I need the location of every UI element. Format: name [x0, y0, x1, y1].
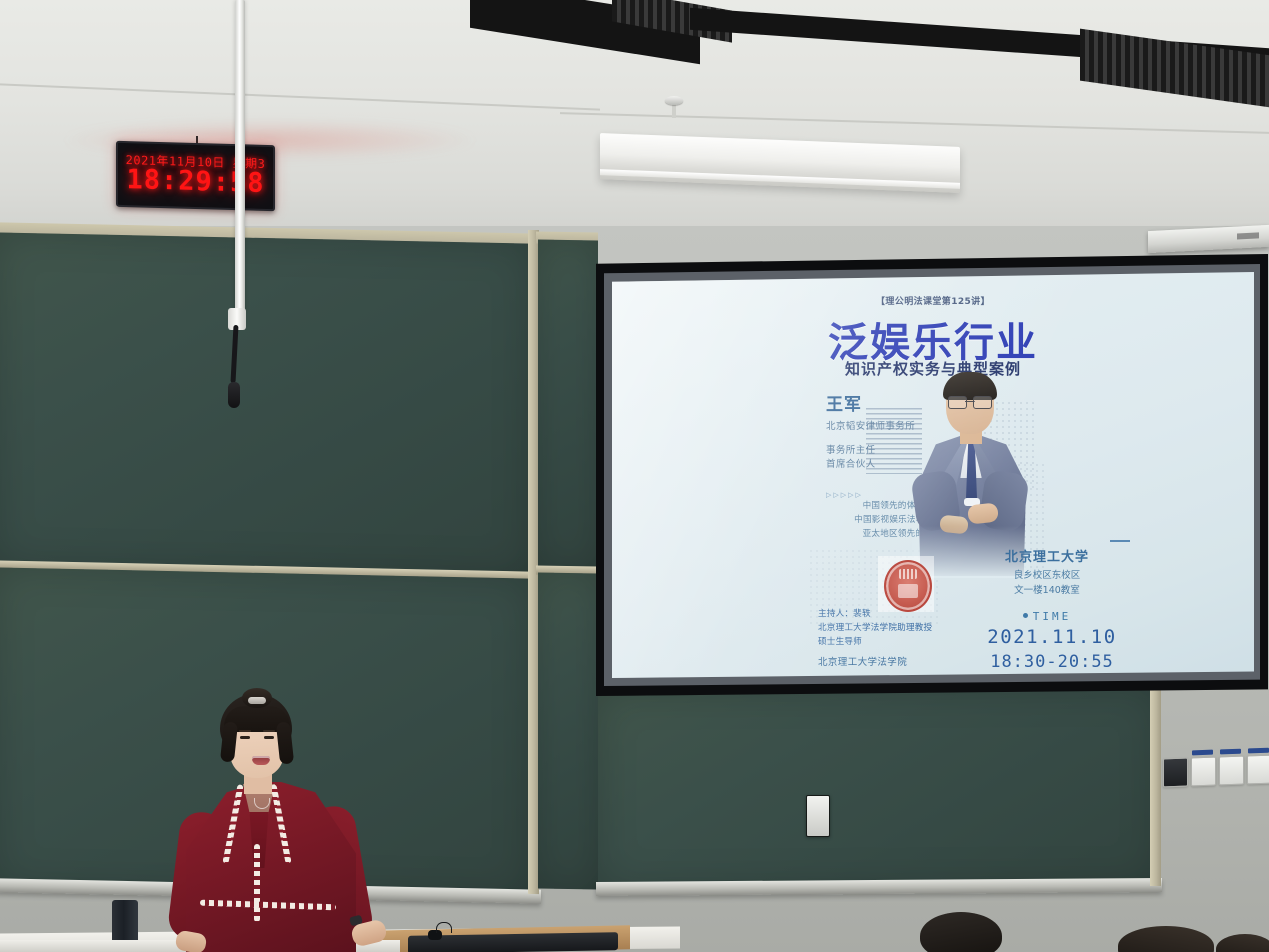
switch-wrap [1247, 755, 1269, 785]
wall-light-switch-panel[interactable] [1163, 754, 1269, 788]
presenter-woman-red-cardigan [168, 694, 418, 952]
roller-label [1237, 232, 1259, 239]
cardigan-trim-center [254, 844, 260, 922]
presenter-mouth [252, 756, 270, 765]
switch-wrap [1191, 757, 1216, 787]
switch-label-1 [1192, 750, 1213, 756]
switch-wrap [1219, 756, 1244, 786]
audience-head-1 [920, 912, 1002, 952]
blackboard-upper-right-strip [538, 239, 598, 570]
switch-3[interactable] [1247, 755, 1269, 785]
screen-glare [612, 272, 1254, 678]
lecture-hall-scene: 2021年11月10日 星期3 18:29:58 【理公明法课堂第125讲】 泛… [0, 0, 1269, 952]
blackboard-right-edge-rail [1150, 686, 1161, 886]
blackboard-upper-left [0, 232, 530, 575]
ceiling-seam [0, 83, 600, 110]
switch-wrap [1163, 758, 1188, 788]
ceiling-vent-grate-right [1080, 29, 1269, 108]
presenter-eye-left [240, 736, 250, 739]
blackboard-below-screen [598, 688, 1158, 888]
blackboard-lower-right-strip [538, 572, 598, 889]
hanging-microphone-icon [228, 382, 240, 408]
ceiling-fluorescent-fixture [600, 133, 960, 193]
presenter-eye-right [264, 736, 274, 739]
switch-label-3 [1248, 748, 1269, 754]
ceiling-seam-2 [560, 112, 1269, 134]
microphone-pole [235, 0, 245, 312]
sprinkler-head-1 [665, 96, 683, 105]
presenter-hair-clip [248, 697, 266, 704]
switch-1[interactable] [1191, 757, 1216, 787]
ceiling [0, 0, 1269, 250]
projection-screen: 【理公明法课堂第125讲】 泛娱乐行业 知识产权实务与典型案例 王军 北京韬安律… [612, 272, 1254, 678]
equipment-cable [436, 922, 452, 933]
led-wall-clock: 2021年11月10日 星期3 18:29:58 [116, 141, 275, 211]
switch-dark-left[interactable] [1163, 758, 1188, 788]
switch-label-2 [1220, 749, 1241, 755]
blackboard-wall-plate[interactable] [806, 795, 830, 837]
switch-2[interactable] [1219, 756, 1244, 786]
